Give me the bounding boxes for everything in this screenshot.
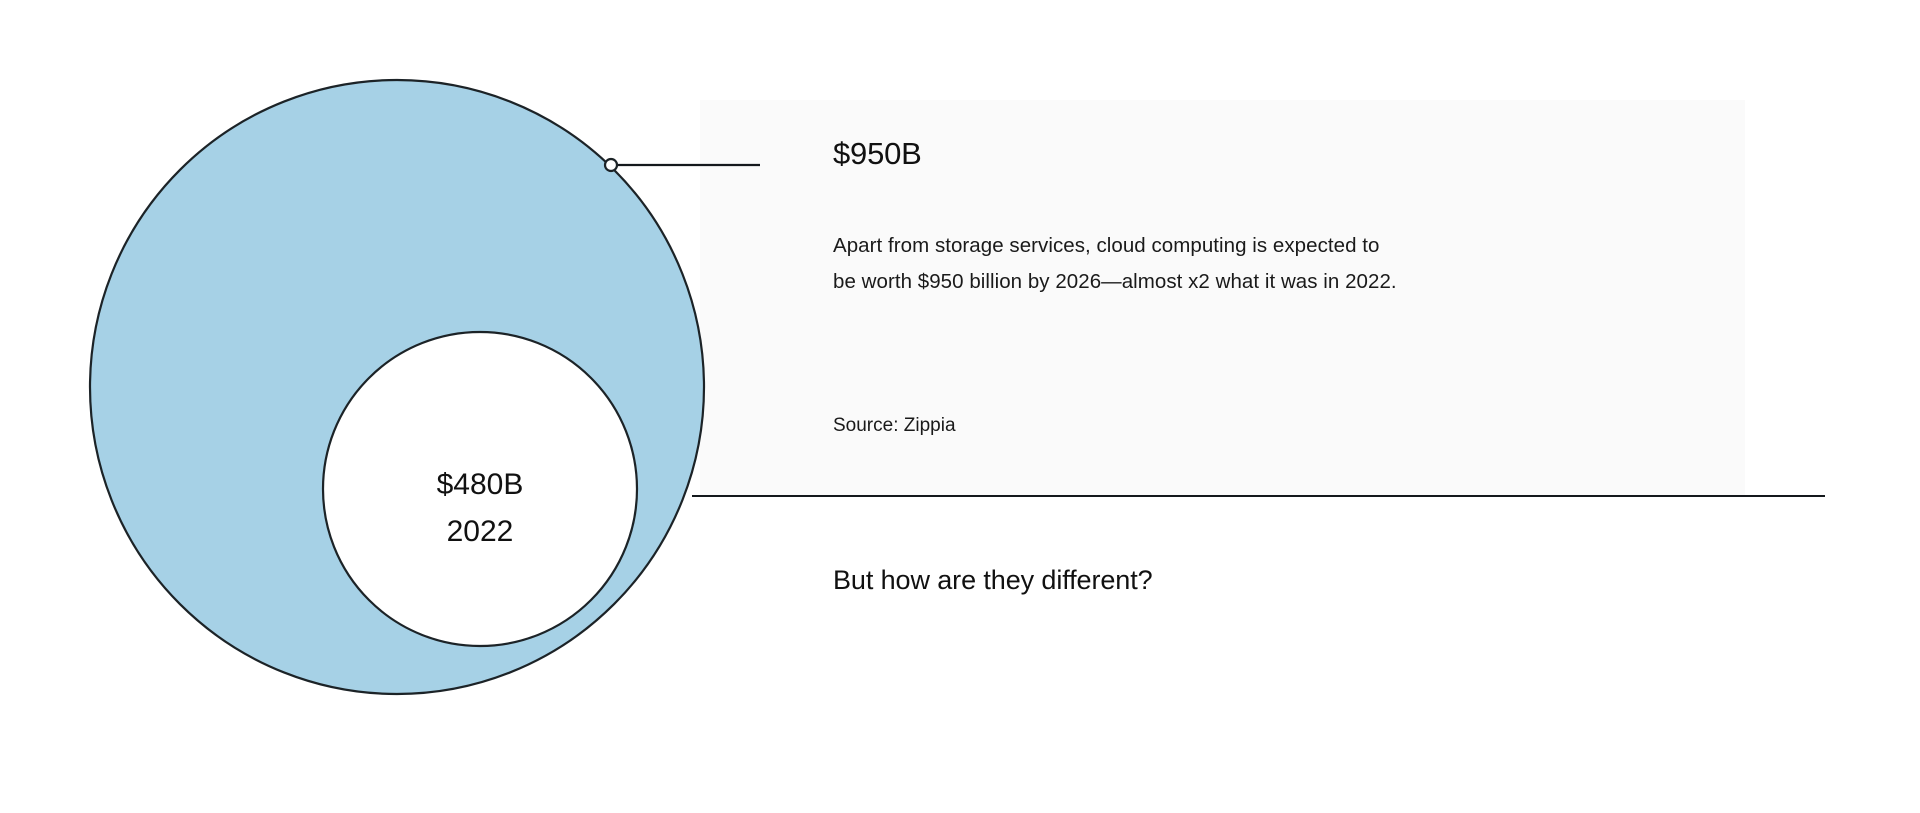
section-divider xyxy=(692,495,1825,497)
callout-body-text: Apart from storage services, cloud compu… xyxy=(833,228,1623,300)
source-attribution: Source: Zippia xyxy=(833,414,956,439)
leader-marker-icon xyxy=(605,159,617,171)
callout-value-heading: $950B xyxy=(833,138,922,169)
footer-question-heading: But how are they different? xyxy=(833,567,1153,594)
inner-circle-year-label: 2022 xyxy=(447,515,514,548)
inner-circle-value-label: $480B xyxy=(437,468,524,501)
callout-body-line-2: be worth $950 billion by 2026—almost x2 … xyxy=(833,264,1623,300)
nested-circle-chart: $480B 2022 xyxy=(0,0,760,813)
callout-body-line-1: Apart from storage services, cloud compu… xyxy=(833,228,1623,264)
